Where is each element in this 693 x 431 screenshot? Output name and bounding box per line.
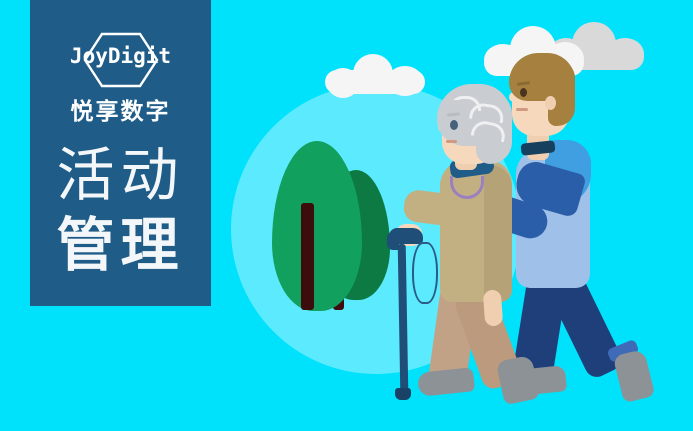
cane-wrist-strap [412,242,438,304]
brand-logo: JoyDigit [30,30,211,92]
youth-hair-side [548,60,575,126]
page-title-line2: 管理 [30,216,211,274]
poster-canvas: JoyDigit 悦享数字 活动 管理 [0,0,693,431]
elder-bangs [441,100,463,120]
elder-hand-lower [483,289,503,326]
page-title-line1: 活动 [30,146,211,204]
elder-eye [450,120,458,130]
brand-chinese-name: 悦享数字 [30,92,211,126]
youth-mouth [516,108,528,111]
brand-wordmark: JoyDigit [30,44,211,68]
elder-mouth [446,140,457,143]
title-panel: JoyDigit 悦享数字 活动 管理 [30,0,211,306]
youth-ear [545,96,556,110]
cloud-left [325,50,425,92]
cane-tip [395,388,411,400]
elder-sweater-shade [484,165,512,302]
youth-eye [520,88,527,97]
